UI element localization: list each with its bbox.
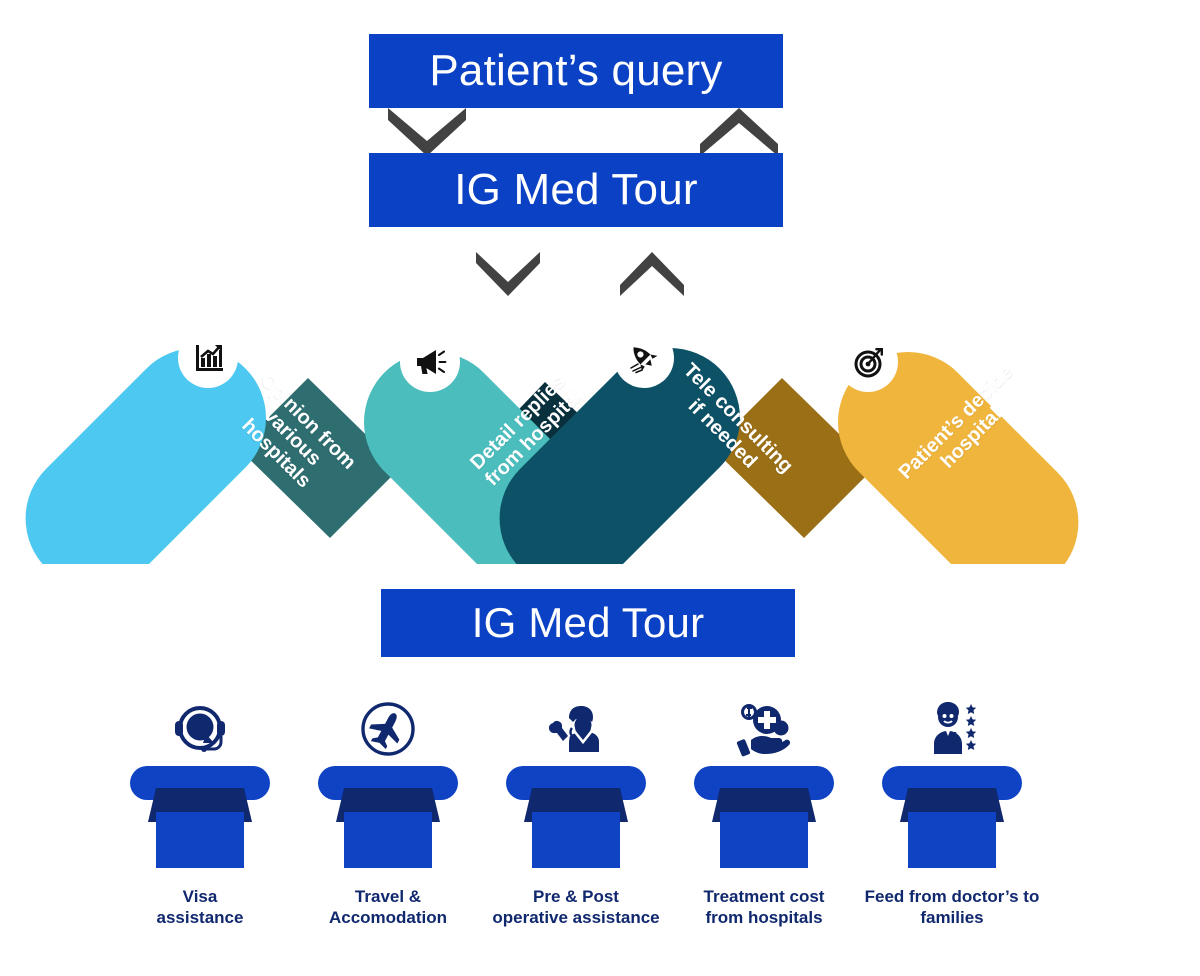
banner-ig-med-tour-bottom: IG Med Tour bbox=[381, 589, 795, 657]
chevron-down-mid-left bbox=[476, 252, 540, 296]
pillar-label-5: Feed from doctor’s to families bbox=[865, 886, 1040, 928]
pillar-label-1: Visa assistance bbox=[157, 886, 244, 928]
rocket-icon bbox=[627, 341, 661, 375]
podium-5 bbox=[882, 766, 1022, 874]
pillar-icon-4 bbox=[733, 686, 795, 760]
chevron-down-top-left bbox=[388, 108, 466, 156]
medical-cost-hand-icon bbox=[733, 698, 795, 760]
pillar-icon-3 bbox=[545, 686, 607, 760]
chevron-up-top-right bbox=[700, 108, 778, 156]
pillar-treatment-cost: Treatment cost from hospitals bbox=[670, 686, 858, 928]
services-pillars: Visa assistance bbox=[0, 686, 1200, 966]
ribbon-icon-circle-2 bbox=[400, 332, 460, 392]
ribbon-icon-circle-3 bbox=[614, 328, 674, 388]
pillar-icon-1 bbox=[169, 686, 231, 760]
chevron-up-mid-right bbox=[620, 252, 684, 296]
headset-support-icon bbox=[169, 698, 231, 760]
podium-2 bbox=[318, 766, 458, 874]
infographic-canvas: Patient’s query IG Med Tour bbox=[0, 0, 1200, 976]
nurse-support-icon bbox=[545, 698, 607, 760]
target-dart-icon bbox=[851, 345, 885, 379]
pillar-icon-5 bbox=[921, 686, 983, 760]
pillar-label-3: Pre & Post operative assistance bbox=[492, 886, 659, 928]
pillar-icon-2 bbox=[357, 686, 419, 760]
process-ribbon: Opinion from various hospitals Detail re… bbox=[0, 296, 1200, 564]
bar-chart-growth-icon bbox=[191, 341, 225, 375]
pillar-pre-post-operative: Pre & Post operative assistance bbox=[482, 686, 670, 928]
pillar-visa-assistance: Visa assistance bbox=[106, 686, 294, 928]
pillar-doctor-feedback: Feed from doctor’s to families bbox=[858, 686, 1046, 928]
pillar-label-4: Treatment cost from hospitals bbox=[704, 886, 825, 928]
airplane-circle-icon bbox=[357, 698, 419, 760]
banner-patients-query-label: Patient’s query bbox=[429, 46, 722, 96]
banner-ig-med-tour-bottom-label: IG Med Tour bbox=[472, 599, 705, 647]
ribbon-icon-circle-1 bbox=[178, 328, 238, 388]
podium-3 bbox=[506, 766, 646, 874]
ribbon-icon-circle-4 bbox=[838, 332, 898, 392]
podium-1 bbox=[130, 766, 270, 874]
pillar-label-2: Travel & Accomodation bbox=[329, 886, 447, 928]
banner-ig-med-tour-middle-label: IG Med Tour bbox=[454, 165, 698, 215]
doctor-rating-icon bbox=[921, 698, 983, 760]
pillar-travel-accommodation: Travel & Accomodation bbox=[294, 686, 482, 928]
podium-4 bbox=[694, 766, 834, 874]
banner-ig-med-tour-middle: IG Med Tour bbox=[369, 153, 783, 227]
megaphone-icon bbox=[413, 345, 447, 379]
ribbon-band-1 bbox=[0, 319, 295, 564]
banner-patients-query: Patient’s query bbox=[369, 34, 783, 108]
